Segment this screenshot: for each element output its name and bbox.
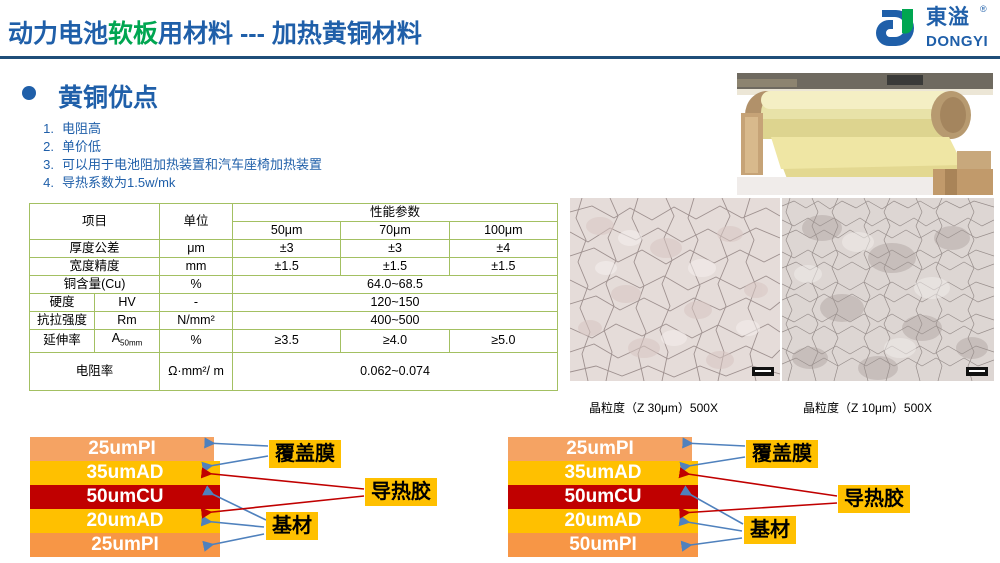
row-value-100: ±1.5 [449, 258, 557, 276]
company-logo: 東溢 ® DONGYI [876, 4, 994, 54]
header-unit: 单位 [160, 204, 233, 240]
row-value-50: ≥3.5 [233, 330, 341, 353]
dongyi-d-logo-icon [876, 6, 922, 50]
row-unit: % [160, 330, 233, 353]
row-item: 硬度 [30, 294, 95, 312]
header-performance: 性能参数 [233, 204, 558, 222]
layer-pi-bottom: 25umPI [30, 533, 220, 557]
table-row: 铜含量(Cu) % 64.0~68.5 [30, 276, 558, 294]
callout-cover-film-right: 覆盖膜 [746, 440, 818, 468]
list-item: 2. 单价低 [30, 138, 550, 156]
callout-base-material-right: 基材 [744, 516, 796, 544]
advantages-list: 1. 电阻高 2. 单价低 3. 可以用于电池阻加热装置和汽车座椅加热装置 4.… [30, 120, 550, 192]
page-title-part1: 动力电池 [8, 20, 108, 48]
spec-table-wrapper: 项目 单位 性能参数 50μm 70μm 100μm 厚度公差 μm ±3 ±3… [29, 203, 558, 391]
row-value-span: 400~500 [233, 312, 558, 330]
row-symbol-subscript: 50mm [120, 339, 142, 348]
header-thickness-70: 70μm [341, 222, 449, 240]
callout-base-material-left: 基材 [266, 512, 318, 540]
layer-ad-upper: 35umAD [30, 461, 220, 485]
layer-pi-top: 25umPI [508, 437, 692, 461]
layer-ad-lower: 20umAD [30, 509, 220, 533]
list-item: 3. 可以用于电池阻加热装置和汽车座椅加热装置 [30, 156, 550, 174]
row-value-span: 0.062~0.074 [233, 352, 558, 390]
row-unit: μm [160, 240, 233, 258]
table-header-row: 项目 单位 性能参数 [30, 204, 558, 222]
callout-thermal-glue-right: 导热胶 [838, 485, 910, 513]
callout-cover-film-left: 覆盖膜 [269, 440, 341, 468]
row-item: 抗拉强度 [30, 312, 95, 330]
header-divider [0, 56, 1000, 59]
scale-bar-icon [752, 367, 774, 376]
header-item: 项目 [30, 204, 160, 240]
layer-pi-top: 25umPI [30, 437, 214, 461]
list-item-number: 3. [30, 156, 62, 174]
row-value-span: 64.0~68.5 [233, 276, 558, 294]
table-row: 抗拉强度 Rm N/mm² 400~500 [30, 312, 558, 330]
row-symbol-base: A [112, 331, 120, 345]
page-title-part3: 用材料 --- 加热黄铜材料 [158, 20, 422, 48]
row-value-100: ≥5.0 [449, 330, 557, 353]
list-item-label: 可以用于电池阻加热装置和汽车座椅加热装置 [62, 156, 322, 174]
row-item: 电阻率 [30, 352, 160, 390]
table-row: 电阻率 Ω·mm²/ m 0.062~0.074 [30, 352, 558, 390]
page-title-part2: 软板 [108, 20, 158, 48]
registered-mark-icon: ® [980, 4, 987, 14]
layer-pi-bottom: 50umPI [508, 533, 698, 557]
header-thickness-100: 100μm [449, 222, 557, 240]
table-row: 硬度 HV - 120~150 [30, 294, 558, 312]
bullet-dot-icon [22, 86, 36, 100]
row-unit: - [160, 294, 233, 312]
header-thickness-50: 50μm [233, 222, 341, 240]
list-item-number: 4. [30, 174, 62, 192]
list-item-label: 单价低 [62, 138, 101, 156]
section-heading: 黄铜优点 [58, 78, 158, 114]
row-unit: % [160, 276, 233, 294]
layer-ad-upper: 35umAD [508, 461, 698, 485]
grain-micrograph-30um [570, 198, 780, 381]
row-value-70: ≥4.0 [341, 330, 449, 353]
row-item: 厚度公差 [30, 240, 160, 258]
list-item-label: 电阻高 [62, 120, 101, 138]
logo-cn-text: 東溢 [926, 6, 970, 30]
row-unit: Ω·mm²/ m [160, 352, 233, 390]
row-item: 宽度精度 [30, 258, 160, 276]
row-symbol: HV [95, 294, 160, 312]
logo-en-text: DONGYI [926, 33, 988, 50]
row-symbol: Rm [95, 312, 160, 330]
row-value-70: ±1.5 [341, 258, 449, 276]
layer-stack-right: 25umPI 35umAD 50umCU 20umAD 50umPI [508, 437, 698, 557]
row-symbol: A50mm [95, 330, 160, 353]
layer-cu: 50umCU [30, 485, 220, 509]
micrograph-caption-10um: 晶粒度（Z 10μm）500X [803, 399, 932, 416]
layer-ad-lower: 20umAD [508, 509, 698, 533]
list-item: 1. 电阻高 [30, 120, 550, 138]
table-row: 延伸率 A50mm % ≥3.5 ≥4.0 ≥5.0 [30, 330, 558, 353]
row-value-70: ±3 [341, 240, 449, 258]
row-item: 铜含量(Cu) [30, 276, 160, 294]
table-row: 宽度精度 mm ±1.5 ±1.5 ±1.5 [30, 258, 558, 276]
row-unit: mm [160, 258, 233, 276]
list-item-label: 导热系数为1.5w/mk [62, 174, 175, 192]
list-item-number: 2. [30, 138, 62, 156]
row-item: 延伸率 [30, 330, 95, 353]
callout-thermal-glue-left: 导热胶 [365, 478, 437, 506]
row-value-100: ±4 [449, 240, 557, 258]
layer-stack-left: 25umPI 35umAD 50umCU 20umAD 25umPI [30, 437, 220, 557]
table-row: 厚度公差 μm ±3 ±3 ±4 [30, 240, 558, 258]
grain-micrograph-10um [782, 198, 994, 381]
row-value-50: ±3 [233, 240, 341, 258]
layer-cu: 50umCU [508, 485, 698, 509]
page-header: 动力电池软板用材料 --- 加热黄铜材料 東溢 ® DONGYI [0, 0, 1000, 58]
list-item-number: 1. [30, 120, 62, 138]
row-value-span: 120~150 [233, 294, 558, 312]
list-item: 4. 导热系数为1.5w/mk [30, 174, 550, 192]
micrograph-caption-30um: 晶粒度（Z 30μm）500X [589, 399, 718, 416]
spec-table: 项目 单位 性能参数 50μm 70μm 100μm 厚度公差 μm ±3 ±3… [29, 203, 558, 391]
row-value-50: ±1.5 [233, 258, 341, 276]
page-title: 动力电池软板用材料 --- 加热黄铜材料 [8, 14, 422, 50]
row-unit: N/mm² [160, 312, 233, 330]
brass-foil-roll-photo [737, 73, 993, 195]
scale-bar-icon [966, 367, 988, 376]
